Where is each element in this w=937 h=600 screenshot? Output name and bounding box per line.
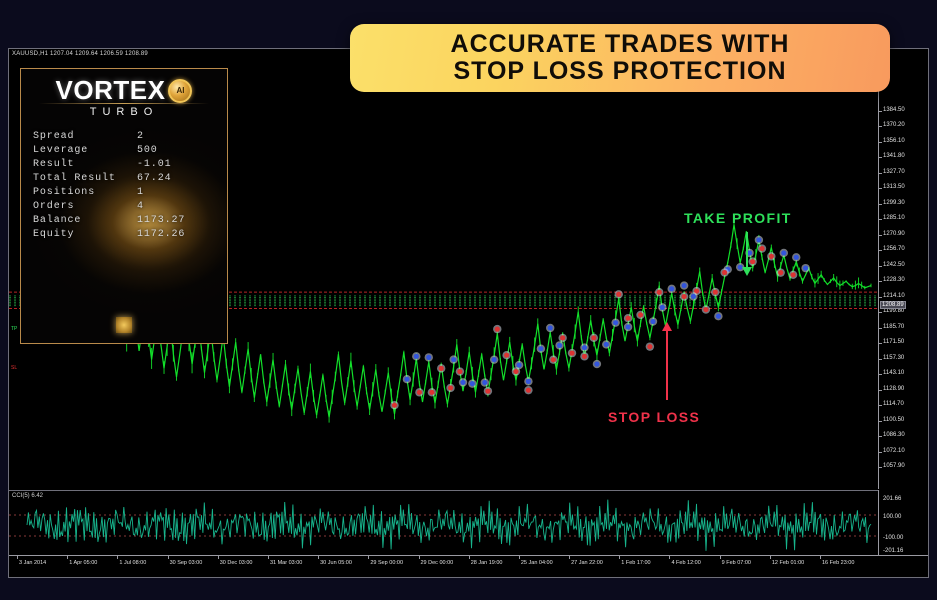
time-tick-mark: [117, 556, 118, 559]
price-tick-label: 1327.70: [883, 169, 905, 175]
price-tick-label: 1086.30: [883, 432, 905, 438]
stop-loss-arrow-icon: [666, 330, 668, 400]
order-marker[interactable]: [549, 355, 557, 363]
stat-row: Orders4: [21, 199, 227, 213]
order-marker[interactable]: [568, 349, 576, 357]
order-marker[interactable]: [512, 367, 520, 375]
time-tick-mark: [619, 556, 620, 559]
order-marker[interactable]: [720, 268, 728, 276]
price-tick-mark: [879, 452, 882, 453]
indicator-tick-label: 100.00: [883, 514, 901, 520]
indicator-tick-label: 201.66: [883, 496, 901, 502]
order-marker[interactable]: [611, 318, 619, 326]
time-tick-label: 1 Jul 08:00: [119, 560, 146, 566]
order-marker[interactable]: [546, 324, 554, 332]
stat-row: Spread2: [21, 129, 227, 143]
price-tick-label: 1356.10: [883, 138, 905, 144]
stats-list: Spread2Leverage500Result-1.01Total Resul…: [21, 125, 227, 241]
time-tick-label: 31 Mar 03:00: [270, 560, 302, 566]
order-marker[interactable]: [593, 360, 601, 368]
price-tick-mark: [879, 111, 882, 112]
edge-tp-label: TP: [11, 326, 17, 332]
order-marker[interactable]: [493, 325, 501, 333]
stat-label: Equity: [33, 229, 137, 240]
time-tick-label: 30 Dec 03:00: [220, 560, 253, 566]
stat-label: Leverage: [33, 145, 137, 156]
stat-row: Result-1.01: [21, 157, 227, 171]
price-tick-label: 1313.50: [883, 184, 905, 190]
current-price-label: 1208.89: [880, 301, 906, 309]
time-tick-mark: [770, 556, 771, 559]
order-marker[interactable]: [484, 387, 492, 395]
stat-label: Positions: [33, 187, 137, 198]
indicator-tick-label: -100.00: [883, 535, 903, 541]
logo-divider: [39, 103, 209, 104]
price-tick-label: 1128.90: [883, 386, 904, 392]
order-marker[interactable]: [456, 367, 464, 375]
order-marker[interactable]: [758, 244, 766, 252]
order-marker[interactable]: [636, 311, 644, 319]
banner-line-1: ACCURATE TRADES WITH: [451, 31, 790, 58]
indicator-tick-label: -201.16: [883, 548, 903, 554]
stat-value: 67.24: [137, 173, 172, 184]
price-tick-mark: [879, 188, 882, 189]
order-marker[interactable]: [437, 364, 445, 372]
edge-sl-label: SL: [11, 365, 17, 371]
order-marker[interactable]: [714, 312, 722, 320]
price-tick-mark: [879, 405, 882, 406]
time-tick-mark: [67, 556, 68, 559]
time-tick-label: 1 Feb 17:00: [621, 560, 650, 566]
stat-row: Leverage500: [21, 143, 227, 157]
price-tick-mark: [879, 374, 882, 375]
time-tick-mark: [469, 556, 470, 559]
chip-icon: [116, 317, 132, 333]
order-marker[interactable]: [558, 334, 566, 342]
price-tick-mark: [879, 328, 882, 329]
order-marker[interactable]: [537, 345, 545, 353]
logo-subtitle: TURBO: [21, 106, 227, 118]
order-marker[interactable]: [649, 317, 657, 325]
order-marker[interactable]: [446, 384, 454, 392]
indicator-axis: 201.66100.00-100.00-201.16: [878, 490, 928, 556]
price-tick-mark: [879, 250, 882, 251]
order-marker[interactable]: [412, 352, 420, 360]
time-tick-mark: [168, 556, 169, 559]
price-tick-label: 1341.80: [883, 153, 905, 159]
order-marker[interactable]: [624, 323, 632, 331]
stat-label: Balance: [33, 215, 137, 226]
time-tick-mark: [268, 556, 269, 559]
stat-label: Result: [33, 159, 137, 170]
cci-line: [27, 500, 871, 551]
price-tick-mark: [879, 281, 882, 282]
price-tick-mark: [879, 390, 882, 391]
order-marker[interactable]: [680, 281, 688, 289]
order-marker[interactable]: [449, 355, 457, 363]
stat-value: 1173.27: [137, 215, 185, 226]
time-tick-label: 12 Feb 01:00: [772, 560, 804, 566]
stat-row: Positions1: [21, 185, 227, 199]
order-marker[interactable]: [792, 253, 800, 261]
stop-loss-annotation: STOP LOSS: [608, 409, 700, 425]
time-axis[interactable]: 3 Jan 20141 Apr 05:001 Jul 08:0030 Sep 0…: [9, 555, 928, 577]
price-tick-label: 1256.70: [883, 246, 905, 252]
order-marker[interactable]: [403, 375, 411, 383]
price-tick-mark: [879, 297, 882, 298]
order-marker[interactable]: [655, 288, 663, 296]
stat-value: 2: [137, 131, 144, 142]
order-marker[interactable]: [602, 340, 610, 348]
time-tick-mark: [720, 556, 721, 559]
order-marker[interactable]: [555, 341, 563, 349]
order-marker[interactable]: [689, 292, 697, 300]
time-tick-mark: [368, 556, 369, 559]
time-tick-mark: [419, 556, 420, 559]
time-tick-label: 4 Feb 12:00: [671, 560, 700, 566]
price-tick-label: 1100.50: [883, 417, 904, 423]
order-marker[interactable]: [524, 386, 532, 394]
promo-banner: ACCURATE TRADES WITH STOP LOSS PROTECTIO…: [350, 24, 890, 92]
order-marker[interactable]: [680, 292, 688, 300]
time-tick-label: 27 Jan 22:00: [571, 560, 603, 566]
order-marker[interactable]: [658, 303, 666, 311]
vortex-info-panel: VORTEX AI TURBO Spread2Leverage500Result…: [20, 68, 228, 344]
price-tick-label: 1299.30: [883, 200, 905, 206]
order-marker[interactable]: [590, 334, 598, 342]
price-tick-label: 1370.20: [883, 122, 905, 128]
order-marker[interactable]: [801, 264, 809, 272]
order-marker[interactable]: [624, 314, 632, 322]
price-tick-label: 1214.10: [883, 293, 905, 299]
price-tick-mark: [879, 436, 882, 437]
order-marker[interactable]: [702, 305, 710, 313]
take-profit-arrow-icon: [746, 232, 748, 268]
price-tick-mark: [879, 467, 882, 468]
stat-value: -1.01: [137, 159, 172, 170]
time-tick-mark: [218, 556, 219, 559]
time-tick-mark: [569, 556, 570, 559]
price-tick-label: 1171.50: [883, 339, 904, 345]
indicator-label: CCI(5) 6.42: [12, 493, 43, 499]
price-tick-mark: [879, 157, 882, 158]
price-tick-mark: [879, 204, 882, 205]
price-tick-label: 1285.10: [883, 215, 905, 221]
order-marker[interactable]: [780, 249, 788, 257]
time-tick-label: 29 Dec 00:00: [421, 560, 454, 566]
time-tick-label: 1 Apr 05:00: [69, 560, 97, 566]
time-tick-mark: [519, 556, 520, 559]
ai-gear-icon: AI: [168, 79, 192, 103]
stat-row: Total Result67.24: [21, 171, 227, 185]
order-marker[interactable]: [615, 290, 623, 298]
price-tick-label: 1242.50: [883, 262, 905, 268]
price-tick-label: 1143.10: [883, 370, 904, 376]
time-tick-label: 16 Feb 23:00: [822, 560, 854, 566]
price-tick-label: 1384.50: [883, 107, 905, 113]
order-marker[interactable]: [580, 343, 588, 351]
order-marker[interactable]: [789, 271, 797, 279]
price-tick-mark: [879, 235, 882, 236]
price-tick-label: 1114.70: [883, 401, 904, 407]
time-tick-label: 25 Jan 04:00: [521, 560, 553, 566]
time-tick-label: 30 Sep 03:00: [170, 560, 203, 566]
price-tick-mark: [879, 421, 882, 422]
banner-line-2: STOP LOSS PROTECTION: [453, 58, 786, 85]
price-tick-mark: [879, 312, 882, 313]
order-marker[interactable]: [755, 236, 763, 244]
order-marker[interactable]: [502, 351, 510, 359]
order-marker[interactable]: [524, 377, 532, 385]
stat-label: Spread: [33, 131, 137, 142]
panel-logo: VORTEX AI TURBO: [21, 69, 227, 125]
price-tick-mark: [879, 126, 882, 127]
logo-row: VORTEX AI: [21, 75, 227, 106]
order-marker[interactable]: [767, 252, 775, 260]
stat-value: 1172.26: [137, 229, 185, 240]
stat-row: Balance1173.27: [21, 213, 227, 227]
price-tick-mark: [879, 266, 882, 267]
order-marker[interactable]: [415, 388, 423, 396]
order-marker[interactable]: [390, 401, 398, 409]
time-tick-label: 3 Jan 2014: [19, 560, 46, 566]
order-marker[interactable]: [748, 257, 756, 265]
symbol-header: XAUUSD,H1 1207.04 1209.64 1206.59 1208.8…: [12, 51, 148, 57]
time-tick-label: 28 Jan 19:00: [471, 560, 503, 566]
order-marker[interactable]: [667, 285, 675, 293]
price-tick-mark: [879, 142, 882, 143]
indicator-pane[interactable]: CCI(5) 6.42: [9, 490, 878, 556]
order-marker[interactable]: [459, 378, 467, 386]
price-tick-mark: [879, 219, 882, 220]
price-tick-mark: [879, 359, 882, 360]
price-tick-label: 1228.30: [883, 277, 905, 283]
price-tick-label: 1072.10: [883, 448, 905, 454]
stat-label: Total Result: [33, 173, 137, 184]
order-marker[interactable]: [711, 288, 719, 296]
order-marker[interactable]: [425, 353, 433, 361]
order-marker[interactable]: [490, 355, 498, 363]
price-tick-label: 1270.90: [883, 231, 905, 237]
order-marker[interactable]: [776, 268, 784, 276]
price-tick-mark: [879, 173, 882, 174]
time-tick-mark: [669, 556, 670, 559]
order-marker[interactable]: [468, 379, 476, 387]
logo-text: VORTEX: [56, 75, 166, 106]
price-tick-label: 1185.70: [883, 324, 904, 330]
indicator-svg: [9, 491, 878, 556]
stat-row: Equity1172.26: [21, 227, 227, 241]
price-tick-mark: [879, 343, 882, 344]
stat-value: 4: [137, 201, 144, 212]
order-marker[interactable]: [481, 378, 489, 386]
time-tick-label: 9 Feb 07:00: [722, 560, 751, 566]
order-marker[interactable]: [580, 352, 588, 360]
price-axis[interactable]: 1384.501370.201356.101341.801327.701313.…: [878, 49, 928, 489]
stat-label: Orders: [33, 201, 137, 212]
price-tick-label: 1157.30: [883, 355, 904, 361]
app-root: XAUUSD,H1 1207.04 1209.64 1206.59 1208.8…: [0, 0, 937, 600]
take-profit-annotation: TAKE PROFIT: [684, 210, 792, 226]
order-marker[interactable]: [646, 342, 654, 350]
time-tick-label: 29 Sep 00:00: [370, 560, 403, 566]
time-tick-label: 30 Jun 05:00: [320, 560, 352, 566]
time-tick-mark: [17, 556, 18, 559]
time-tick-mark: [318, 556, 319, 559]
stat-value: 1: [137, 187, 144, 198]
time-tick-mark: [820, 556, 821, 559]
stat-value: 500: [137, 145, 158, 156]
price-tick-label: 1057.90: [883, 463, 905, 469]
order-marker[interactable]: [428, 388, 436, 396]
